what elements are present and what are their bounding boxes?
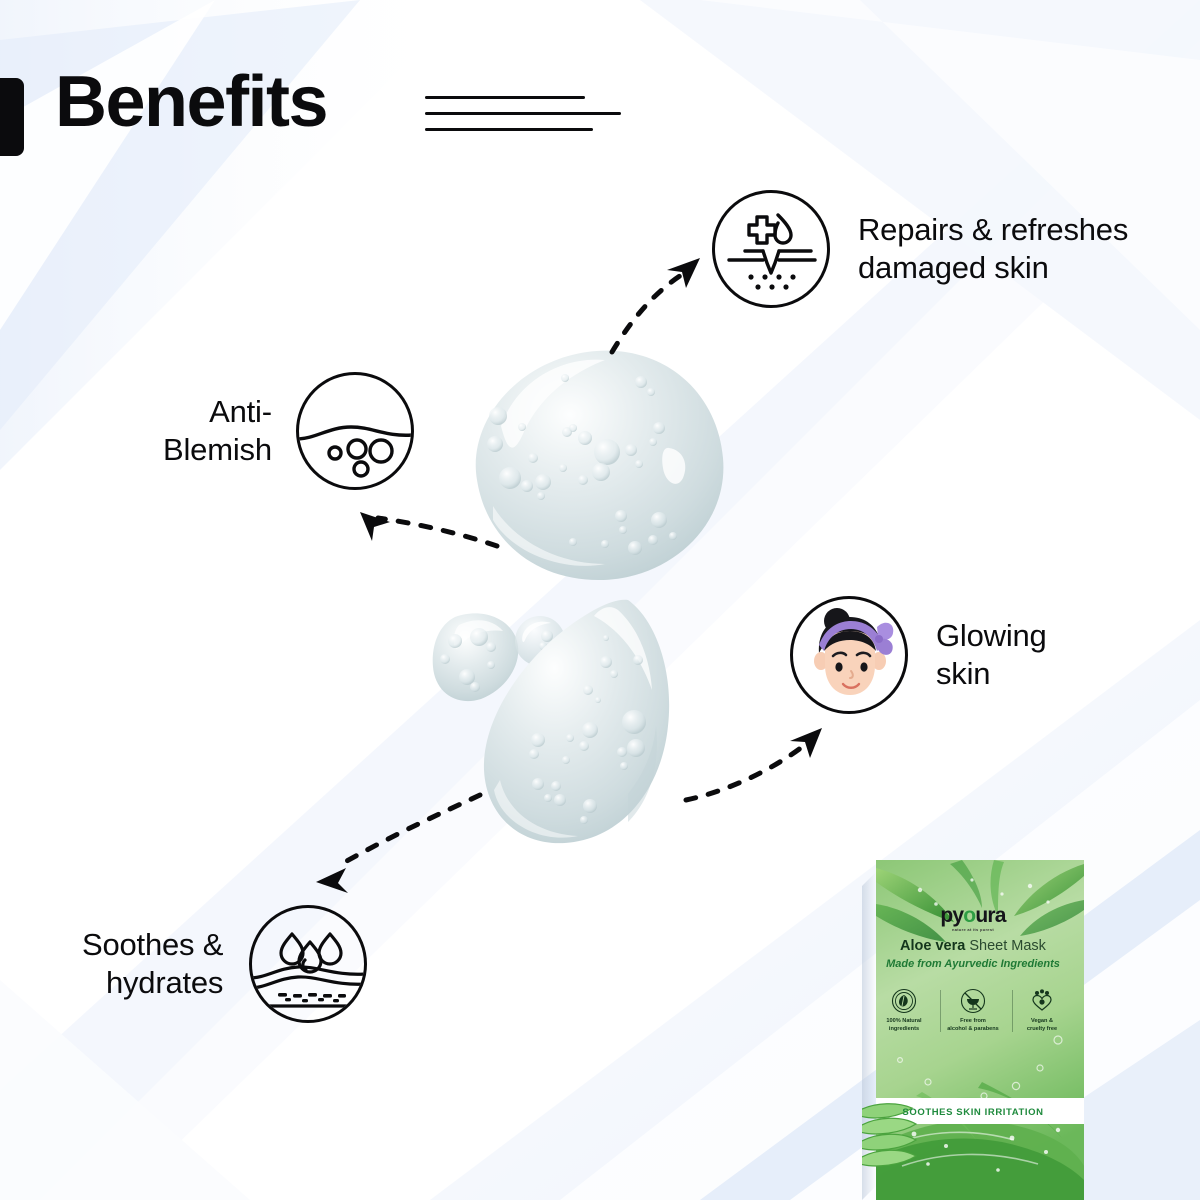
- product-package[interactable]: pyoura nature at its purest Aloe vera Sh…: [862, 846, 1084, 1200]
- badge-no-alcohol: Free from alcohol & parabens: [943, 988, 1003, 1033]
- arrow-path-repairs: [612, 272, 686, 352]
- product-title-rest: Sheet Mask: [965, 938, 1046, 954]
- infographic-canvas: Benefits: [0, 0, 1200, 1200]
- benefit-label-anti-blemish: Anti- Blemish: [163, 393, 272, 469]
- product-title-bold: Aloe vera: [900, 938, 965, 954]
- blemish-skin-icon: [296, 372, 414, 490]
- brand-logo: pyoura nature at its purest: [862, 904, 1084, 932]
- badge-cruelty-free-text: Vegan & cruelty free: [1012, 1018, 1072, 1033]
- product-title: Aloe vera Sheet Mask: [862, 938, 1084, 954]
- badge-no-alcohol-text: Free from alcohol & parabens: [943, 1018, 1003, 1033]
- badge-cruelty-free: Vegan & cruelty free: [1012, 988, 1072, 1033]
- arrowhead-soothes: [316, 868, 348, 893]
- badge-natural: 100% Natural ingredients: [874, 988, 934, 1033]
- benefit-label-soothes-hydrates: Soothes & hydrates: [82, 926, 223, 1002]
- arrow-path-glowing: [686, 744, 806, 800]
- benefit-item-anti-blemish[interactable]: Anti- Blemish: [163, 372, 414, 490]
- repair-skin-icon: [712, 190, 830, 308]
- benefit-label-repairs: Repairs & refreshes damaged skin: [858, 211, 1128, 287]
- hydrate-droplets-icon: [249, 905, 367, 1023]
- product-badges: 100% Natural ingredients Free from alcoh…: [874, 988, 1072, 1033]
- product-banner-text: SOOTHES SKIN IRRITATION: [862, 1107, 1084, 1118]
- brand-leaf-o: o: [963, 904, 975, 927]
- badge-natural-text: 100% Natural ingredients: [874, 1018, 934, 1033]
- product-subtitle: Made from Ayurvedic Ingredients: [862, 958, 1084, 970]
- arrow-path-soothes: [338, 795, 480, 866]
- brand-part-2: ura: [975, 904, 1005, 927]
- benefit-item-soothes-hydrates[interactable]: Soothes & hydrates: [82, 905, 367, 1023]
- brand-tagline: nature at its purest: [862, 927, 1084, 932]
- benefit-item-glowing-skin[interactable]: Glowing skin: [790, 596, 1047, 714]
- benefit-item-repairs[interactable]: Repairs & refreshes damaged skin: [712, 190, 1128, 308]
- no-alcohol-icon: [960, 988, 986, 1014]
- cruelty-free-icon: [1029, 988, 1055, 1014]
- arrow-path-anti-blemish: [378, 518, 497, 546]
- glowing-face-icon: [790, 596, 908, 714]
- natural-leaf-icon: [891, 988, 917, 1014]
- benefit-label-glowing-skin: Glowing skin: [936, 617, 1047, 693]
- arrowhead-anti-blemish: [360, 512, 390, 541]
- brand-part-1: py: [940, 904, 963, 927]
- badge-divider-1: [940, 990, 941, 1032]
